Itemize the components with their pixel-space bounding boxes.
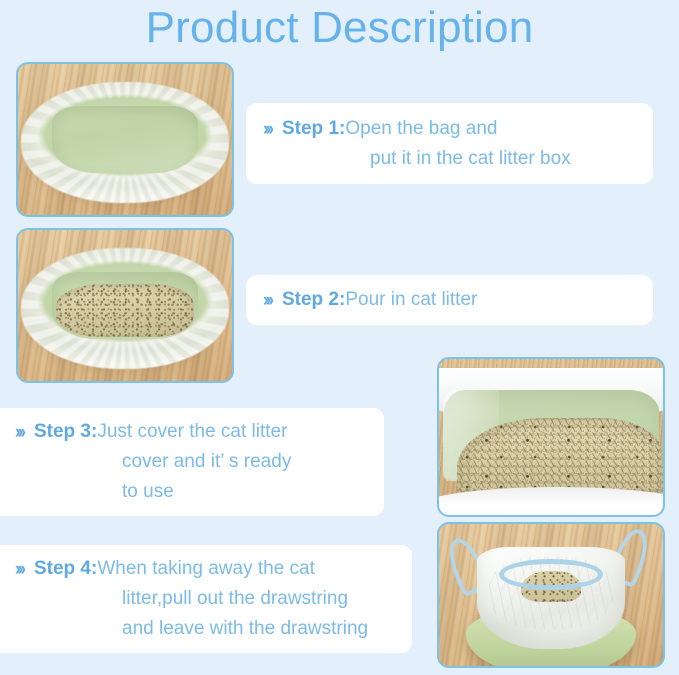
step-2-headline: ››› Step 2: Pour in cat litter [263, 285, 653, 315]
litter-box-tray [29, 257, 222, 360]
step-card-4: ››› Step 4: When taking away the cat lit… [0, 545, 412, 653]
photo-scene [439, 359, 663, 515]
liner-bag-body [477, 547, 625, 649]
litter-box-tray [29, 91, 222, 194]
white-litter-box-front-edge [439, 487, 663, 515]
step-1-first-line: Open the bag and [345, 114, 497, 144]
step-1-headline: ››› Step 1: Open the bag and [263, 114, 653, 144]
step-card-3: ››› Step 3: Just cover the cat litter co… [0, 408, 384, 516]
step-3-first-line: Just cover the cat litter [97, 417, 287, 447]
step-1-label: Step 1: [282, 114, 345, 144]
chevron-right-triple-icon: ››› [15, 552, 23, 587]
photo-drawstring-bag-lifted [437, 522, 665, 668]
step-1-line-2: put it in the cat litter box [263, 144, 653, 174]
page-title: Product Description [0, 2, 679, 54]
step-3-headline: ››› Step 3: Just cover the cat litter [15, 417, 384, 447]
step-card-2: ››› Step 2: Pour in cat litter [246, 275, 653, 325]
photo-scene [18, 64, 232, 215]
step-2-label: Step 2: [282, 285, 345, 315]
step-3-content: ››› Step 3: Just cover the cat litter co… [15, 417, 384, 507]
step-card-1: ››› Step 1: Open the bag and put it in t… [246, 103, 653, 184]
photo-litter-closeup-in-white-box [437, 357, 665, 517]
step-1-content: ››› Step 1: Open the bag and put it in t… [263, 114, 653, 174]
step-4-first-line: When taking away the cat [97, 554, 315, 584]
chevron-right-triple-icon: ››› [15, 415, 23, 450]
chevron-right-triple-icon: ››› [263, 112, 271, 147]
step-4-label: Step 4: [34, 554, 97, 584]
step-3-line-3: to use [15, 477, 384, 507]
step-2-content: ››› Step 2: Pour in cat litter [263, 285, 653, 315]
step-4-line-3: and leave with the drawstring [15, 614, 412, 644]
photo-scene [439, 524, 663, 666]
chevron-right-triple-icon: ››› [263, 283, 271, 318]
photo-scene [18, 230, 232, 381]
step-2-first-line: Pour in cat litter [345, 285, 477, 315]
cat-litter-fill [56, 284, 195, 337]
liner-interior [52, 106, 198, 174]
step-4-content: ››› Step 4: When taking away the cat lit… [15, 554, 412, 644]
step-4-line-2: litter,pull out the drawstring [15, 584, 412, 614]
step-3-line-2: cover and it’ s ready [15, 447, 384, 477]
step-3-label: Step 3: [34, 417, 97, 447]
photo-empty-liner-in-litter-box [16, 62, 234, 217]
drawstring-bag-mouth [499, 559, 602, 590]
step-4-headline: ››› Step 4: When taking away the cat [15, 554, 412, 584]
photo-liner-filled-with-litter [16, 228, 234, 383]
